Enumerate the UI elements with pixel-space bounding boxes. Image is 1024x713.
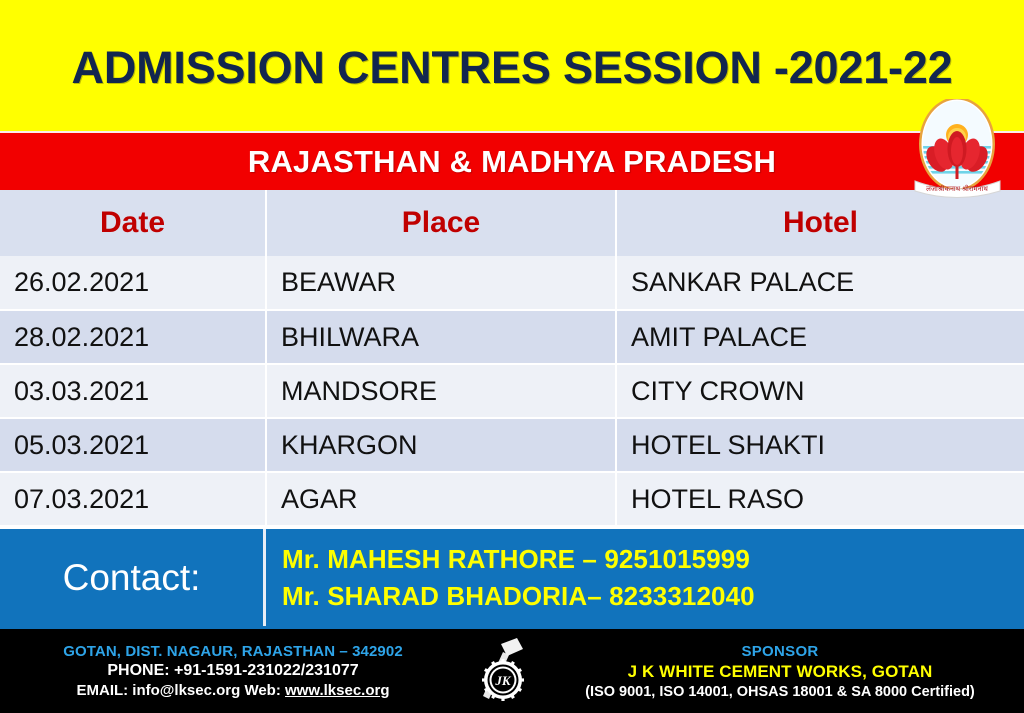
table-row: 03.03.2021 MANDSORE CITY CROWN [0, 364, 1024, 418]
footer-phone: PHONE: +91-1591-231022/231077 [6, 662, 460, 680]
jk-cement-gear-logo: JK [460, 636, 540, 706]
footer-sponsor-label: SPONSOR [540, 643, 1020, 660]
footer-sponsor-name: J K WHITE CEMENT WORKS, GOTAN [540, 662, 1020, 682]
cell-place: KHARGON [266, 418, 616, 472]
table-row: 28.02.2021 BHILWARA AMIT PALACE [0, 310, 1024, 364]
column-header-place: Place [266, 190, 616, 256]
cell-place: MANDSORE [266, 364, 616, 418]
column-header-date: Date [0, 190, 266, 256]
cell-date: 05.03.2021 [0, 418, 266, 472]
contact-label: Contact: [0, 529, 266, 626]
title-banner: ADMISSION CENTRES SESSION -2021-22 [0, 0, 1024, 131]
contact-people-list: Mr. MAHESH RATHORE – 9251015999 Mr. SHAR… [266, 529, 1024, 626]
footer-sponsor-details: SPONSOR J K WHITE CEMENT WORKS, GOTAN (I… [540, 643, 1024, 700]
cell-date: 07.03.2021 [0, 472, 266, 526]
cell-hotel: AMIT PALACE [616, 310, 1024, 364]
table-row: 07.03.2021 AGAR HOTEL RASO [0, 472, 1024, 526]
footer-bar: GOTAN, DIST. NAGAUR, RAJASTHAN – 342902 … [0, 626, 1024, 713]
page-title: ADMISSION CENTRES SESSION -2021-22 [72, 42, 953, 94]
contact-row: Contact: Mr. MAHESH RATHORE – 9251015999… [0, 527, 1024, 626]
cell-place: BHILWARA [266, 310, 616, 364]
column-header-hotel: Hotel [616, 190, 1024, 256]
footer-website-link[interactable]: www.lksec.org [285, 682, 389, 699]
cell-hotel: HOTEL RASO [616, 472, 1024, 526]
footer-organisation-details: GOTAN, DIST. NAGAUR, RAJASTHAN – 342902 … [0, 643, 460, 699]
footer-email-text: EMAIL: info@lksec.org Web: [76, 682, 285, 699]
admission-centres-poster: ADMISSION CENTRES SESSION -2021-22 RAJAS… [0, 0, 1024, 713]
contact-person: Mr. SHARAD BHADORIA– 8233312040 [282, 580, 1024, 613]
cell-place: AGAR [266, 472, 616, 526]
footer-email-web: EMAIL: info@lksec.org Web: www.lksec.org [6, 682, 460, 699]
contact-person: Mr. MAHESH RATHORE – 9251015999 [282, 543, 1024, 576]
region-banner: RAJASTHAN & MADHYA PRADESH [0, 131, 1024, 190]
cell-place: BEAWAR [266, 256, 616, 310]
cell-hotel: SANKAR PALACE [616, 256, 1024, 310]
cell-hotel: CITY CROWN [616, 364, 1024, 418]
admission-schedule-table: Date Place Hotel 26.02.2021 BEAWAR SANKA… [0, 190, 1024, 527]
table-body: 26.02.2021 BEAWAR SANKAR PALACE 28.02.20… [0, 256, 1024, 526]
cell-date: 28.02.2021 [0, 310, 266, 364]
crest-ribbon-text: लंजाश्रीकनाथ श्रीरामनाथ [926, 184, 988, 193]
cell-date: 26.02.2021 [0, 256, 266, 310]
svg-text:JK: JK [494, 673, 512, 688]
cell-hotel: HOTEL SHAKTI [616, 418, 1024, 472]
region-banner-label: RAJASTHAN & MADHYA PRADESH [248, 144, 776, 180]
table-header-row: Date Place Hotel [0, 190, 1024, 256]
table-row: 26.02.2021 BEAWAR SANKAR PALACE [0, 256, 1024, 310]
cell-date: 03.03.2021 [0, 364, 266, 418]
institution-crest-logo: लंजाश्रीकनाथ श्रीरामनाथ [905, 99, 1010, 199]
footer-address: GOTAN, DIST. NAGAUR, RAJASTHAN – 342902 [6, 643, 460, 660]
table-row: 05.03.2021 KHARGON HOTEL SHAKTI [0, 418, 1024, 472]
footer-certification: (ISO 9001, ISO 14001, OHSAS 18001 & SA 8… [540, 684, 1020, 700]
